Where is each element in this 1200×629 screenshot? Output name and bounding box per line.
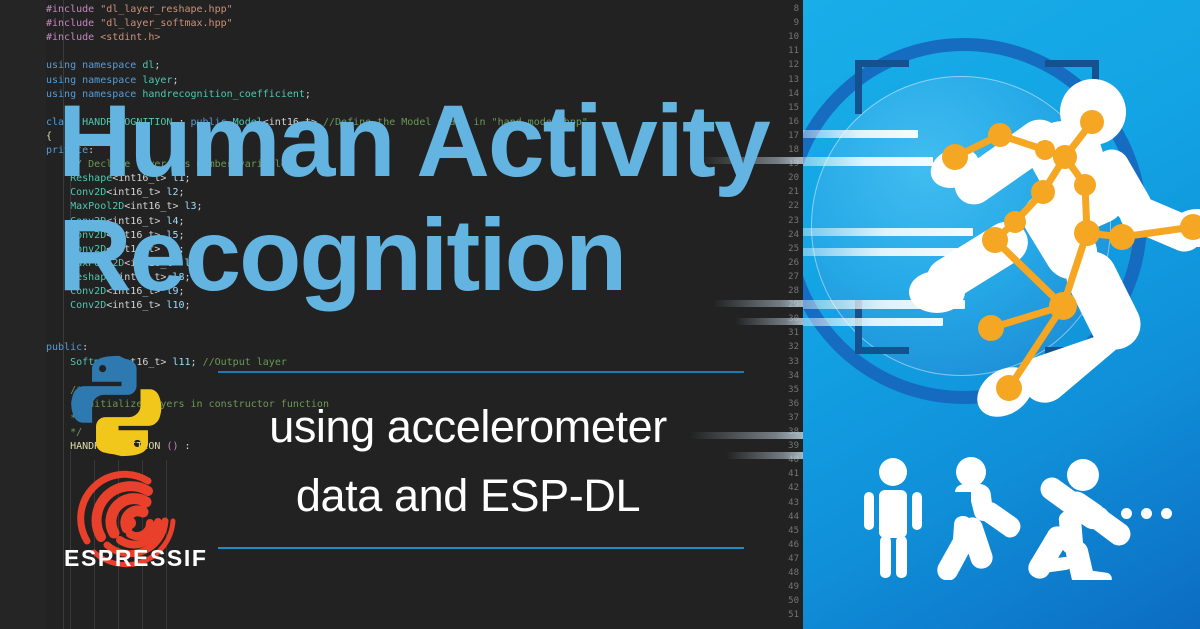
indent-guide	[70, 168, 71, 250]
line-number: 10	[759, 32, 799, 42]
code-line: private:	[46, 145, 94, 156]
line-number: 34	[759, 371, 799, 381]
line-number: 20	[759, 173, 799, 183]
line-number: 28	[759, 286, 799, 296]
code-line: using namespace handrecognition_coeffici…	[46, 89, 311, 100]
ellipsis-icon	[1121, 508, 1172, 519]
line-number: 49	[759, 582, 799, 592]
line-number: 21	[759, 187, 799, 197]
ellipsis-dot	[1121, 508, 1132, 519]
code-line: #include "dl_layer_softmax.hpp"	[46, 18, 233, 29]
illustration-panel	[803, 0, 1200, 629]
banner-image: #include "dl_layer_reshape.hpp"#include …	[0, 0, 1200, 629]
code-line: Conv2D<int16_t> l10;	[46, 300, 191, 311]
line-number: 46	[759, 540, 799, 550]
line-number: 33	[759, 357, 799, 367]
divider-top	[218, 371, 744, 373]
line-number: 30	[759, 314, 799, 324]
subtitle-line-2: data and ESP-DL	[168, 461, 768, 530]
code-line: Conv2D<int16_t> l2;	[46, 187, 185, 198]
line-number: 26	[759, 258, 799, 268]
line-number: 11	[759, 46, 799, 56]
line-number: 12	[759, 60, 799, 70]
divider-bottom	[218, 547, 744, 549]
line-number: 14	[759, 89, 799, 99]
line-number: 48	[759, 568, 799, 578]
code-line: class HANDRECOGNITION : public Model<int…	[46, 117, 588, 128]
line-number: 25	[759, 244, 799, 254]
line-number: 31	[759, 328, 799, 338]
code-line: MaxPool2D<int16_t> l7;	[46, 258, 203, 269]
line-number: 13	[759, 75, 799, 85]
code-line: using namespace layer;	[46, 75, 179, 86]
line-number: 15	[759, 103, 799, 113]
line-number: 32	[759, 342, 799, 352]
code-line: using namespace dl;	[46, 60, 160, 71]
line-number: 51	[759, 610, 799, 620]
code-line: Conv2D<int16_t> l6;	[46, 244, 185, 255]
line-number-gutter	[0, 0, 46, 629]
code-line: Conv2D<int16_t> l5;	[46, 230, 185, 241]
line-number: 18	[759, 145, 799, 155]
walking-person-icon	[937, 457, 1020, 580]
line-number: 50	[759, 596, 799, 606]
line-number: 17	[759, 131, 799, 141]
code-line: {	[46, 131, 52, 142]
line-number: 19	[759, 159, 799, 169]
espressif-wordmark: ESPRESSIF	[64, 545, 198, 572]
ellipsis-dot	[1161, 508, 1172, 519]
code-line: #include <stdint.h>	[46, 32, 160, 43]
line-number: 47	[759, 554, 799, 564]
subtitle-line-1: using accelerometer	[168, 392, 768, 461]
code-line: Conv2D<int16_t> l9;	[46, 286, 185, 297]
line-number: 9	[759, 18, 799, 28]
line-number: 8	[759, 4, 799, 14]
standing-person-icon	[864, 458, 922, 578]
line-number: 16	[759, 117, 799, 127]
code-line: #include "dl_layer_reshape.hpp"	[46, 4, 233, 15]
code-line: Reshape<int16_t> l8;	[46, 272, 191, 283]
code-line: Reshape<int16_t> l1;	[46, 173, 191, 184]
line-number: 23	[759, 216, 799, 226]
line-number: 24	[759, 230, 799, 240]
page-subtitle: using accelerometer data and ESP-DL	[168, 392, 768, 530]
running-person-icon	[1028, 459, 1130, 580]
line-number: 29	[759, 300, 799, 310]
code-line: // Declare layers as member variables	[46, 159, 293, 170]
python-logo-icon	[66, 352, 174, 460]
running-figure-skeleton-icon	[803, 0, 1200, 430]
ellipsis-dot	[1141, 508, 1152, 519]
line-number: 27	[759, 272, 799, 282]
code-line: Conv2D<int16_t> l4;	[46, 216, 185, 227]
line-number: 22	[759, 201, 799, 211]
